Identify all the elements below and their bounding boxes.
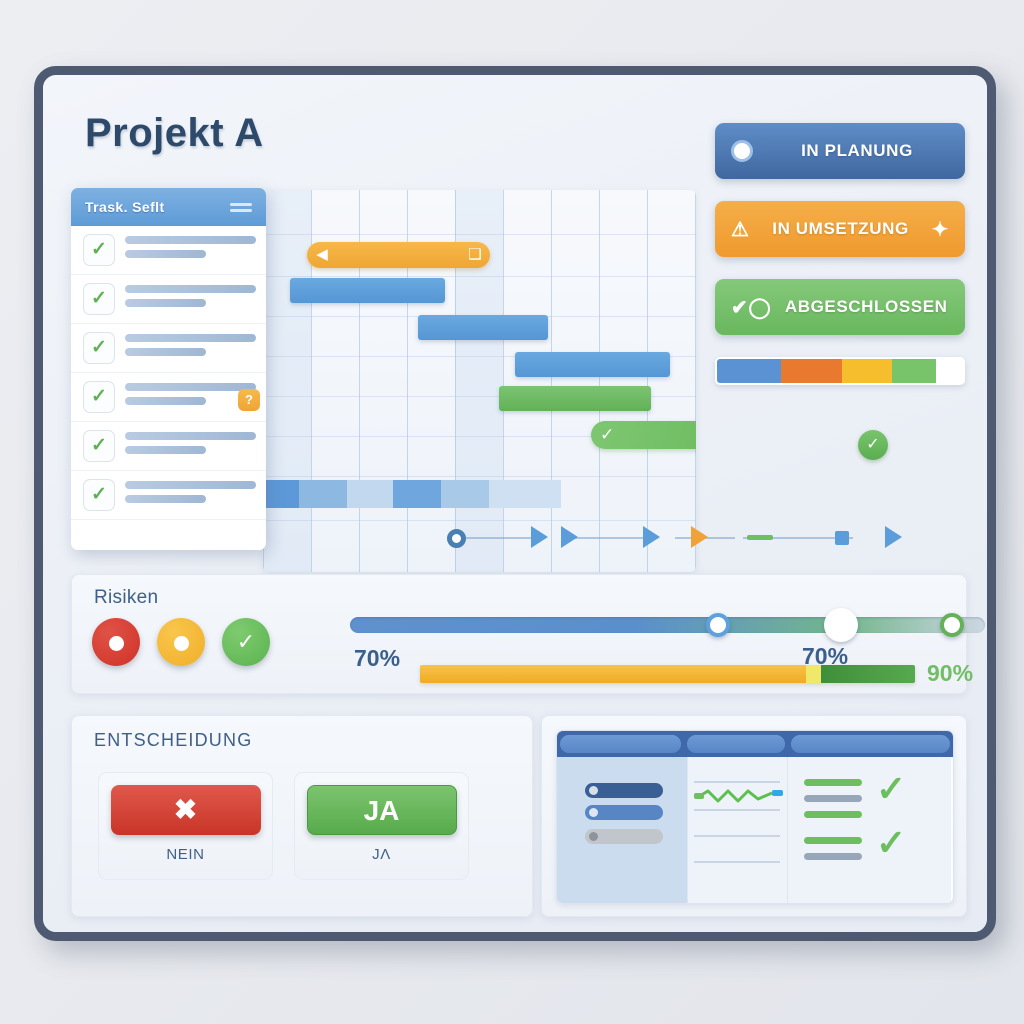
milestone-triangle-icon[interactable]	[531, 526, 548, 548]
mini-row-line	[804, 811, 862, 818]
gantt-bar-orange[interactable]: ◀ ❑	[307, 242, 490, 268]
mini-row-line	[804, 779, 862, 786]
circle-dot-icon	[731, 140, 753, 162]
mini-column-chart[interactable]	[687, 757, 787, 903]
timeline-segment	[263, 480, 299, 508]
list-item[interactable]: ✓	[71, 422, 266, 471]
mini-divider	[694, 835, 780, 837]
mini-column-checks[interactable]: ✓ ✓	[787, 757, 951, 903]
list-item-text	[125, 236, 256, 264]
gantt-gridline	[647, 190, 648, 572]
progress-segment	[781, 359, 843, 383]
decision-yes-button[interactable]: JA	[307, 785, 457, 835]
list-item-text	[125, 432, 256, 460]
gantt-gridline	[695, 190, 696, 572]
progress-marker	[806, 665, 821, 683]
mini-table-body: ✓ ✓	[557, 757, 953, 903]
check-icon: ✓	[876, 825, 906, 861]
decision-no-button[interactable]: ✖	[111, 785, 261, 835]
gantt-gridline	[503, 190, 504, 572]
slider-handle-3[interactable]	[940, 613, 964, 637]
mini-row-line	[804, 795, 862, 802]
decision-yes-caption: JΛ	[295, 846, 468, 863]
mini-dashboard-wrap: ✓ ✓	[541, 715, 967, 917]
close-icon: ✖	[174, 794, 197, 825]
status-badge-label: ABGESCHLOSSEN	[783, 297, 949, 317]
sparkline-chart	[694, 785, 784, 811]
progress-segment	[420, 665, 806, 683]
list-item[interactable]: ✓	[71, 324, 266, 373]
list-item[interactable]: ✓	[71, 471, 266, 520]
checkbox-checked-icon[interactable]: ✓	[83, 479, 115, 511]
progress-segment	[717, 359, 781, 383]
milestone-triangle-icon[interactable]	[643, 526, 660, 548]
percent-left-label: 70%	[354, 645, 400, 672]
progress-segment	[842, 359, 891, 383]
mini-table-header	[557, 731, 953, 757]
gantt-bar-blue[interactable]	[418, 315, 548, 340]
orange-green-progress-bar[interactable]	[420, 665, 915, 683]
slider-handle-2[interactable]	[824, 608, 858, 642]
risiken-panel: Risiken ✓ 70% 70% 90%	[71, 574, 967, 694]
entscheidung-panel: ENTSCHEIDUNG ✖ NEIN JA JΛ	[71, 715, 533, 917]
check-icon: ✓	[876, 771, 906, 807]
mini-dashboard-panel[interactable]: ✓ ✓	[556, 730, 954, 904]
progress-segment	[936, 359, 963, 383]
bar-end-flag-icon: ❑	[466, 246, 484, 264]
list-item[interactable]: ✓	[71, 226, 266, 275]
list-item[interactable]: ✓	[71, 275, 266, 324]
checkbox-checked-icon[interactable]: ✓	[83, 430, 115, 462]
gantt-bar-completed[interactable]: ✓	[591, 421, 696, 449]
segmented-progress-bar[interactable]	[715, 357, 965, 385]
milestone-ring-icon[interactable]	[447, 529, 466, 548]
check-icon: ✓	[600, 425, 614, 445]
percent-right-label: 90%	[927, 660, 973, 687]
gantt-chart[interactable]: ◀ ❑ ✓	[263, 190, 696, 572]
risk-light-green[interactable]: ✓	[222, 618, 270, 666]
list-item-text	[125, 334, 256, 362]
progress-segment	[821, 665, 915, 683]
mini-row-line	[804, 853, 862, 860]
timeline-segment	[347, 480, 393, 508]
mini-row-line	[804, 837, 862, 844]
mini-header-cell	[791, 735, 950, 753]
checkbox-checked-icon[interactable]: ✓	[83, 234, 115, 266]
milestone-row[interactable]	[443, 525, 943, 551]
list-item[interactable]: ✓ ?	[71, 373, 266, 422]
checkbox-checked-icon[interactable]: ✓	[83, 332, 115, 364]
gantt-bar-blue[interactable]	[290, 278, 445, 303]
status-badge-label: IN PLANUNG	[765, 141, 949, 161]
gantt-shade	[263, 190, 311, 572]
milestone-triangle-icon[interactable]	[561, 526, 578, 548]
slider-handle-1[interactable]	[706, 613, 730, 637]
progress-slider-track[interactable]	[350, 617, 985, 633]
hamburger-icon[interactable]	[230, 200, 252, 215]
timeline-segment	[489, 480, 561, 508]
timeline-band[interactable]	[263, 480, 561, 508]
risk-light-yellow[interactable]	[157, 618, 205, 666]
timeline-segment	[441, 480, 489, 508]
risiken-title: Risiken	[94, 587, 158, 609]
mini-divider	[694, 781, 780, 783]
gantt-gridline	[551, 190, 552, 572]
bar-start-arrow-icon: ◀	[313, 246, 331, 264]
task-list-card[interactable]: Trask. Seflt ✓ ✓ ✓ ✓ ? ✓	[71, 188, 266, 550]
timeline-segment	[299, 480, 347, 508]
app-window-frame: Projekt A ◀ ❑	[34, 66, 996, 941]
decision-no-wrap[interactable]: ✖ NEIN	[98, 772, 273, 880]
mini-divider	[694, 861, 780, 863]
gantt-bar-green[interactable]	[499, 386, 651, 411]
help-badge-icon[interactable]: ?	[238, 389, 260, 411]
list-item-text	[125, 481, 256, 509]
milestone-triangle-orange-icon[interactable]	[691, 526, 708, 548]
gantt-gridline	[263, 234, 696, 235]
gantt-gridline	[263, 476, 696, 477]
app-canvas: Projekt A ◀ ❑	[43, 75, 987, 932]
status-badge-in-umsetzung[interactable]: ⚠ IN UMSETZUNG ✦	[715, 201, 965, 257]
mini-pill[interactable]	[585, 783, 663, 798]
page-title: Projekt A	[85, 111, 264, 156]
status-badge-in-planung[interactable]: IN PLANUNG	[715, 123, 965, 179]
gantt-gridline	[263, 276, 696, 277]
milestone-triangle-icon[interactable]	[885, 526, 902, 548]
check-circle-icon: ✔◯	[731, 295, 771, 320]
timeline-segment	[393, 480, 441, 508]
milestone-green-line-icon[interactable]	[747, 535, 773, 540]
decision-no-caption: NEIN	[99, 846, 272, 863]
decision-yes-wrap[interactable]: JA JΛ	[294, 772, 469, 880]
gantt-gridline	[263, 520, 696, 521]
progress-segment	[892, 359, 936, 383]
mini-column-list[interactable]	[557, 757, 687, 903]
task-list-header: Trask. Seflt	[71, 188, 266, 226]
sparkle-icon: ✦	[932, 217, 949, 242]
status-badge-label: IN UMSETZUNG	[762, 219, 920, 239]
mini-header-cell	[560, 735, 681, 753]
mini-header-cell	[687, 735, 784, 753]
completed-check-badge[interactable]: ✓	[858, 430, 888, 460]
gantt-bar-blue[interactable]	[515, 352, 670, 377]
gantt-gridline	[599, 190, 600, 572]
entscheidung-title: ENTSCHEIDUNG	[94, 730, 252, 751]
mini-pill[interactable]	[585, 805, 663, 820]
mini-pill[interactable]	[585, 829, 663, 844]
risk-light-red[interactable]	[92, 618, 140, 666]
warning-triangle-icon: ⚠	[731, 217, 750, 242]
milestone-square-icon[interactable]	[835, 531, 849, 545]
checkbox-checked-icon[interactable]: ✓	[83, 283, 115, 315]
status-badge-abgeschlossen[interactable]: ✔◯ ABGESCHLOSSEN	[715, 279, 965, 335]
list-item-text	[125, 383, 256, 411]
task-list-title: Trask. Seflt	[85, 199, 165, 215]
list-item-text	[125, 285, 256, 313]
checkbox-checked-icon[interactable]: ✓	[83, 381, 115, 413]
